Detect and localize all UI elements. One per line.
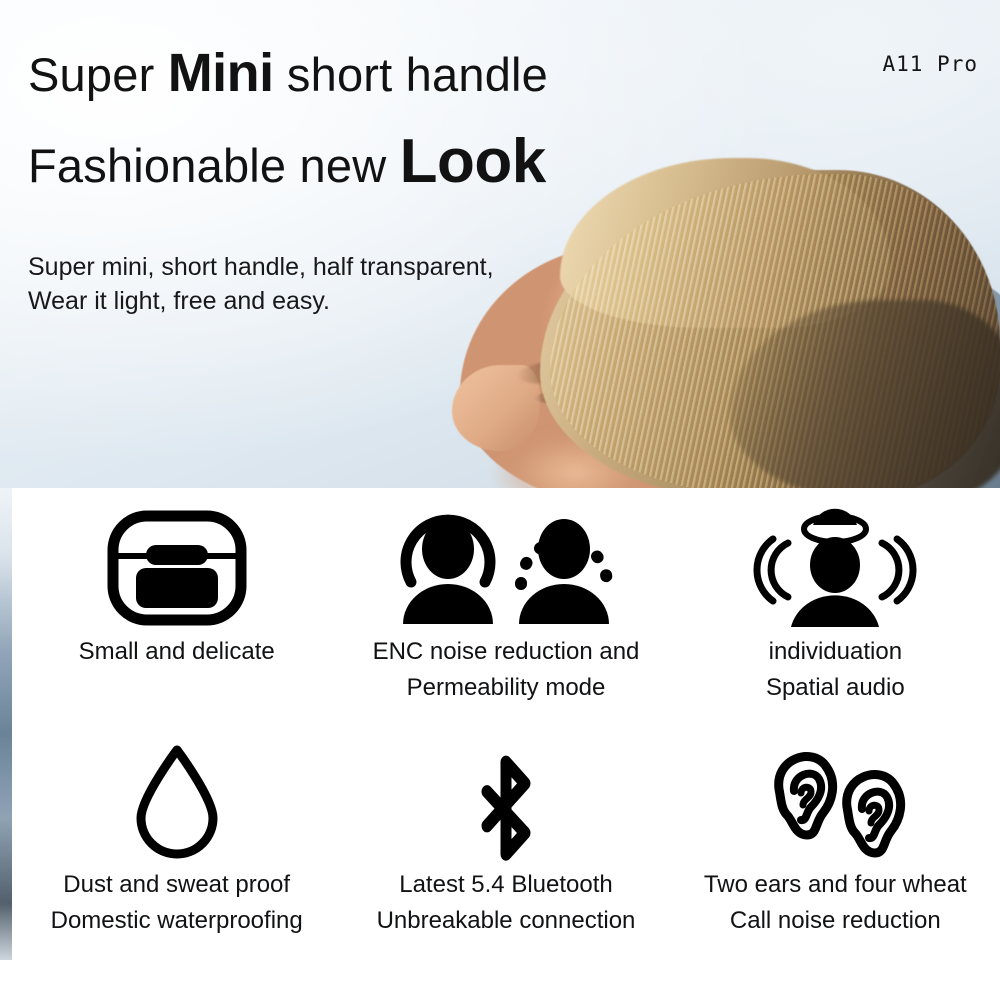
headline-1-plain-b: short handle	[274, 48, 548, 101]
earbuds-case-icon	[106, 504, 248, 632]
product-banner: Super Mini short handle Fashionable new …	[0, 0, 1000, 1000]
headline-2-plain: Fashionable new	[28, 139, 400, 192]
hero-subcopy: Super mini, short handle, half transpare…	[28, 250, 494, 318]
bluetooth-icon	[450, 741, 562, 861]
hero-photo-section: Super Mini short handle Fashionable new …	[0, 0, 1000, 490]
left-edge-photo-strip	[0, 488, 12, 960]
person-photo	[430, 150, 1000, 490]
feature-caption: individuation Spatial audio	[766, 634, 905, 706]
features-panel: Small and delicate	[12, 488, 1000, 1000]
feature-caption: ENC noise reduction and Permeability mod…	[373, 634, 640, 706]
feature-caption: Dust and sweat proof Domestic waterproof…	[51, 867, 303, 939]
feature-item-spatial-audio: individuation Spatial audio	[671, 488, 1000, 723]
feature-item-waterproofing: Dust and sweat proof Domestic waterproof…	[12, 723, 341, 958]
feature-item-small-and-delicate: Small and delicate	[12, 488, 341, 723]
two-ears-icon	[749, 741, 921, 861]
headline-line-1: Super Mini short handle	[28, 42, 548, 104]
headline-line-2: Fashionable new Look	[28, 126, 546, 197]
headline-2-emphasis: Look	[400, 127, 546, 196]
feature-caption: Two ears and four wheat Call noise reduc…	[704, 867, 967, 939]
water-drop-icon	[131, 741, 223, 861]
feature-caption: Small and delicate	[79, 634, 275, 670]
spatial-audio-icon	[745, 504, 925, 632]
headline-1-plain-a: Super	[28, 48, 168, 101]
enc-noise-reduction-icon	[381, 504, 631, 632]
feature-item-enc-noise-reduction: ENC noise reduction and Permeability mod…	[341, 488, 670, 723]
headline-1-emphasis: Mini	[168, 43, 274, 103]
features-grid: Small and delicate	[12, 488, 1000, 958]
feature-item-bluetooth: Latest 5.4 Bluetooth Unbreakable connect…	[341, 723, 670, 958]
feature-item-two-ears: Two ears and four wheat Call noise reduc…	[671, 723, 1000, 958]
model-number-label: A11 Pro	[882, 52, 978, 76]
feature-caption: Latest 5.4 Bluetooth Unbreakable connect…	[377, 867, 636, 939]
